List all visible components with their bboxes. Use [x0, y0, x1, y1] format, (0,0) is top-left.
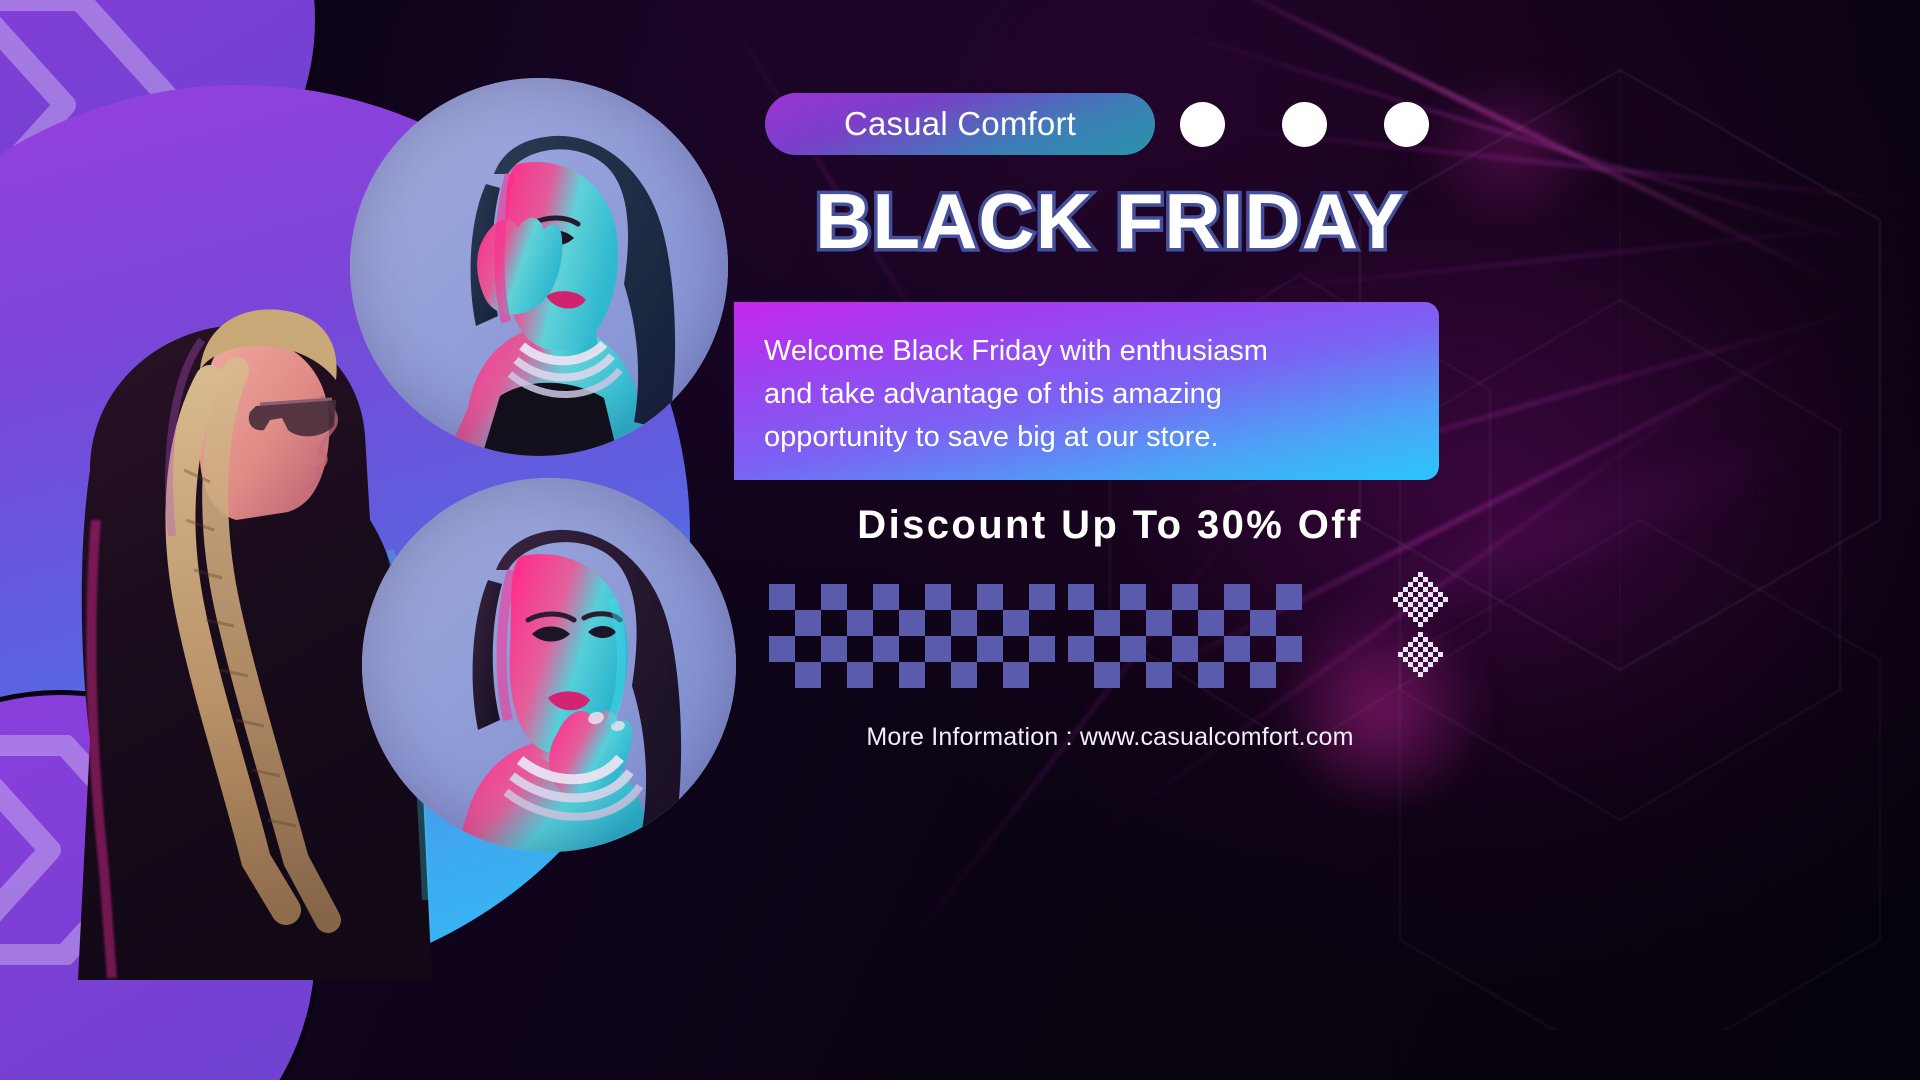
checkerboard-cell: [1029, 662, 1055, 688]
checkerboard-cell: [1029, 584, 1055, 610]
checkerboard-cell: [795, 610, 821, 636]
circle-dot-icon-2[interactable]: [1282, 102, 1327, 147]
checkerboard-cell: [1146, 662, 1172, 688]
checkerboard-cell: [899, 610, 925, 636]
checkerboard-cell: [1094, 610, 1120, 636]
checkerboard-cell: [1068, 662, 1094, 688]
checkerboard-cell: [977, 636, 1003, 662]
checkerboard-row: [769, 636, 1055, 662]
portrait-bottom: [362, 478, 736, 852]
checkerboard-cell: [1198, 636, 1224, 662]
checkerboard-cell: [769, 636, 795, 662]
checkerboard-row: [769, 610, 1055, 636]
checkerboard-cell: [1198, 662, 1224, 688]
checkerboard-cell: [847, 584, 873, 610]
checkerboard-cell: [873, 636, 899, 662]
checkerboard-cell: [769, 610, 795, 636]
checkerboard-cell: [951, 662, 977, 688]
checkerboard-cell: [1276, 584, 1302, 610]
checkerboard-cell: [925, 636, 951, 662]
dot-indicators: [1180, 102, 1429, 147]
checkerboard-cell: [1250, 636, 1276, 662]
checkerboard-cell: [1029, 610, 1055, 636]
checkerboard-cell: [1120, 636, 1146, 662]
diamond-row: [1368, 672, 1473, 677]
checkerboard-cell: [873, 662, 899, 688]
checkerboard-cell: [925, 662, 951, 688]
checkerboard-cell: [769, 584, 795, 610]
checkerboard-cell: [951, 584, 977, 610]
checkerboard-cell: [1068, 636, 1094, 662]
checkerboard-cell: [1146, 636, 1172, 662]
checkerboard-cell: [951, 636, 977, 662]
content-column: Casual Comfort BLACK FRIDAY Welcome Blac…: [760, 0, 1460, 1080]
checkerboard-cell: [977, 584, 1003, 610]
checkerboard-cell: [1172, 662, 1198, 688]
checkerboard-row: [1068, 636, 1302, 662]
checkerboard-cell: [795, 584, 821, 610]
checkerboard-cell: [821, 636, 847, 662]
checkerboard-cell: [951, 610, 977, 636]
checkerboard-row: [1068, 610, 1302, 636]
checkerboard-cell: [925, 610, 951, 636]
brand-badge[interactable]: Casual Comfort: [765, 93, 1155, 155]
checkerboard-cell: [1224, 636, 1250, 662]
necklace: [510, 344, 620, 395]
checkerboard-cell: [847, 610, 873, 636]
checkerboard-pattern-left: [769, 584, 1055, 688]
checkerboard-cell: [1003, 584, 1029, 610]
description-line-3: opportunity to save big at our store.: [764, 416, 1374, 459]
checkerboard-cell: [795, 636, 821, 662]
portrait-top: [350, 78, 728, 456]
checkerboard-cell: [873, 584, 899, 610]
checkerboard-cell: [1120, 610, 1146, 636]
checkerboard-cell: [1276, 662, 1302, 688]
checkerboard-cell: [925, 584, 951, 610]
checkerboard-cell: [1276, 636, 1302, 662]
checkerboard-cell: [899, 636, 925, 662]
portrait-top-image: [350, 78, 728, 456]
more-information-text: More Information : www.casualcomfort.com: [760, 723, 1460, 752]
checkerboard-cell: [1198, 584, 1224, 610]
checkerboard-cell: [977, 662, 1003, 688]
checkerboard-cell: [821, 584, 847, 610]
checkerboard-cell: [821, 610, 847, 636]
checkerboard-cell: [1094, 584, 1120, 610]
checkerboard-cell: [1094, 636, 1120, 662]
checkerboard-cell: [899, 584, 925, 610]
page-title: BLACK FRIDAY: [760, 182, 1460, 260]
poster-canvas: Casual Comfort BLACK FRIDAY Welcome Blac…: [0, 0, 1920, 1080]
checkerboard-cell: [847, 636, 873, 662]
diamond-cell: [1468, 672, 1473, 677]
checkerboard-cell: [1003, 662, 1029, 688]
checkerboard-cell: [899, 662, 925, 688]
checkerboard-cell: [1003, 610, 1029, 636]
checkerboard-cell: [977, 610, 1003, 636]
checkerboard-cell: [1003, 636, 1029, 662]
checkerboard-cell: [1224, 662, 1250, 688]
checkerboard-cell: [1120, 662, 1146, 688]
checkerboard-cell: [1120, 584, 1146, 610]
checkerboard-cell: [1146, 584, 1172, 610]
checkerboard-cell: [1146, 610, 1172, 636]
necklace-2: [506, 758, 640, 817]
checkerboard-cell: [1224, 610, 1250, 636]
checkerboard-cell: [1224, 584, 1250, 610]
checkerboard-row: [769, 584, 1055, 610]
portrait-bottom-image: [362, 478, 736, 852]
description-panel: Welcome Black Friday with enthusiasm and…: [734, 302, 1439, 480]
checkerboard-cell: [1068, 610, 1094, 636]
checkerboard-cell: [1250, 610, 1276, 636]
checkerboard-cell: [769, 662, 795, 688]
checkerboard-cell: [795, 662, 821, 688]
description-line-2: and take advantage of this amazing: [764, 373, 1374, 416]
checkerboard-row: [1068, 662, 1302, 688]
checkerboard-cell: [1094, 662, 1120, 688]
checkerboard-pattern-right: [1068, 584, 1302, 688]
checkerboard-cell: [1172, 636, 1198, 662]
checkerboard-cell: [1250, 662, 1276, 688]
checkerboard-cell: [1250, 584, 1276, 610]
checkerboard-cell: [873, 610, 899, 636]
checkerboard-cell: [1172, 610, 1198, 636]
checkerboard-cell: [821, 662, 847, 688]
brand-badge-label: Casual Comfort: [844, 105, 1076, 143]
checkerboard-row: [769, 662, 1055, 688]
checkerboard-cell: [1198, 610, 1224, 636]
discount-headline: Discount Up To 30% Off: [760, 503, 1460, 548]
checkerboard-cell: [1029, 636, 1055, 662]
diamond-pattern-icon: [1368, 572, 1473, 677]
circle-dot-icon-3[interactable]: [1384, 102, 1429, 147]
checkerboard-cell: [1276, 610, 1302, 636]
description-text: Welcome Black Friday with enthusiasm and…: [764, 330, 1374, 459]
checkerboard-cell: [1068, 584, 1094, 610]
description-line-1: Welcome Black Friday with enthusiasm: [764, 330, 1374, 373]
checkerboard-cell: [1172, 584, 1198, 610]
checkerboard-row: [1068, 584, 1302, 610]
checkerboard-cell: [847, 662, 873, 688]
circle-dot-icon-1[interactable]: [1180, 102, 1225, 147]
